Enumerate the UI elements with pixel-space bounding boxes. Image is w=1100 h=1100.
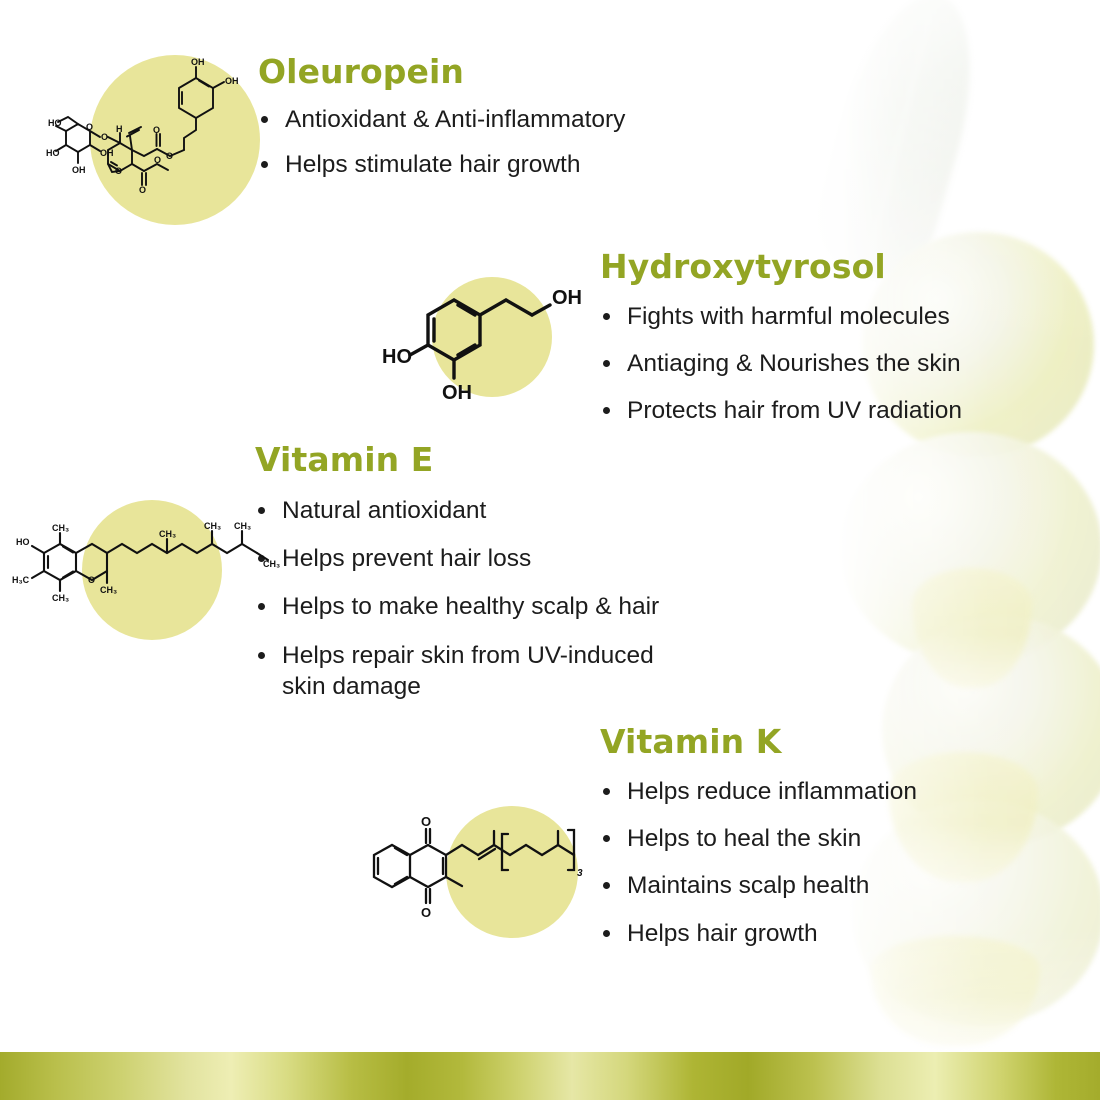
list-item: Fights with harmful molecules <box>600 301 1020 332</box>
vitamin-k-svg: O O 3 <box>358 798 608 948</box>
bullet-dot-icon <box>603 835 610 842</box>
list-item: Helps hair growth <box>600 918 1020 949</box>
section-hydroxytyrosol: Hydroxytyrosol Fights with harmful molec… <box>600 250 1020 427</box>
hydroxytyrosol-svg: HO OH OH <box>380 262 605 417</box>
bullet-dot-icon <box>603 882 610 889</box>
bullet-dot-icon <box>603 407 610 414</box>
label-oh: OH <box>442 382 472 404</box>
oleuropein-structure-diagram: OH OH HO HO OH OH H O O O O O O O <box>20 40 260 215</box>
bullet-dot-icon <box>603 360 610 367</box>
section-heading-vitamin-k: Vitamin K <box>600 725 1020 760</box>
bullet-text: Protects hair from UV radiation <box>627 397 962 424</box>
bullet-list-vitamin-k: Helps reduce inflammation Helps to heal … <box>600 776 1020 949</box>
bullet-dot-icon <box>603 313 610 320</box>
section-oleuropein: Oleuropein Antioxidant & Anti-inflammato… <box>258 55 688 180</box>
label-ch3: CH₃ <box>159 529 176 539</box>
bullet-dot-icon <box>603 788 610 795</box>
bullet-list-hydroxytyrosol: Fights with harmful molecules Antiaging … <box>600 301 1020 427</box>
label-o: O <box>86 122 93 132</box>
list-item: Natural antioxidant <box>255 495 705 526</box>
list-item: Protects hair from UV radiation <box>600 395 1020 426</box>
label-oh: OH <box>191 57 205 67</box>
label-oh: OH <box>552 287 582 309</box>
vitamin-k-structure-diagram: O O 3 <box>358 798 608 948</box>
label-oh: OH <box>72 165 86 175</box>
label-o: O <box>166 151 173 161</box>
infographic-poster: OH OH HO HO OH OH H O O O O O O O Oleuro… <box>0 0 1100 1100</box>
bullet-text: Helps hair growth <box>627 920 818 947</box>
bullet-text: Helps prevent hair loss <box>282 545 531 572</box>
label-h: H <box>116 124 123 134</box>
list-item: Antiaging & Nourishes the skin <box>600 348 1020 379</box>
bullet-list-oleuropein: Antioxidant & Anti-inflammatory Helps st… <box>258 104 688 181</box>
label-oh: OH <box>100 148 114 158</box>
bullet-dot-icon <box>603 930 610 937</box>
section-heading-vitamin-e: Vitamin E <box>255 443 705 478</box>
label-ho: HO <box>16 537 30 547</box>
list-item: Helps prevent hair loss <box>255 543 705 574</box>
list-item: Helps reduce inflammation <box>600 776 1020 807</box>
label-ch3: CH₃ <box>263 559 280 569</box>
label-oh: OH <box>225 76 239 86</box>
label-ch3: CH₃ <box>234 521 251 531</box>
section-heading-oleuropein: Oleuropein <box>258 55 688 90</box>
olive-oil-drip-3 <box>870 936 1040 1046</box>
label-ho: HO <box>46 148 60 158</box>
label-ch3: CH₃ <box>52 593 69 603</box>
section-heading-hydroxytyrosol: Hydroxytyrosol <box>600 250 1020 285</box>
list-item: Helps stimulate hair growth <box>258 149 688 180</box>
label-o: O <box>154 155 161 165</box>
label-o: O <box>88 575 95 585</box>
label-h3c: H₃C <box>12 575 30 585</box>
label-ho: HO <box>382 346 412 368</box>
label-o: O <box>421 814 431 829</box>
list-item: Helps repair skin from UV-induced skin d… <box>255 640 705 703</box>
label-o: O <box>115 166 122 176</box>
hydroxytyrosol-structure-diagram: HO OH OH <box>380 262 605 417</box>
bottom-accent-bar <box>0 1052 1100 1100</box>
label-ch3: CH₃ <box>204 521 221 531</box>
label-o: O <box>139 185 146 195</box>
bullet-list-vitamin-e: Natural antioxidant Helps prevent hair l… <box>255 495 705 703</box>
label-o: O <box>421 905 431 920</box>
label-ho: HO <box>48 118 62 128</box>
bullet-text: Helps stimulate hair growth <box>285 151 580 178</box>
bullet-text: Antioxidant & Anti-inflammatory <box>285 106 625 133</box>
vitamin-e-structure-diagram: HO CH₃ H₃C CH₃ O CH₃ CH₃ CH₃ CH₃ CH₃ <box>10 495 275 640</box>
olive-fruit-2 <box>840 432 1100 664</box>
section-vitamin-k: Vitamin K Helps reduce inflammation Help… <box>600 725 1020 949</box>
oleuropein-svg: OH OH HO HO OH OH H O O O O O O O <box>20 40 260 215</box>
bullet-text: Helps repair skin from UV-induced skin d… <box>282 642 654 700</box>
bullet-text: Helps to make healthy scalp & hair <box>282 593 659 620</box>
label-ch3: CH₃ <box>100 585 117 595</box>
bullet-dot-icon <box>261 161 268 168</box>
bullet-text: Antiaging & Nourishes the skin <box>627 350 961 377</box>
list-item: Helps to heal the skin <box>600 823 1020 854</box>
label-o: O <box>101 132 108 142</box>
bullet-text: Fights with harmful molecules <box>627 303 950 330</box>
bullet-text: Helps reduce inflammation <box>627 778 917 805</box>
label-ch3: CH₃ <box>52 523 69 533</box>
list-item: Maintains scalp health <box>600 870 1020 901</box>
label-subscript-3: 3 <box>577 868 583 879</box>
bullet-text: Helps to heal the skin <box>627 825 861 852</box>
list-item: Antioxidant & Anti-inflammatory <box>258 104 688 135</box>
bullet-dot-icon <box>258 652 265 659</box>
olive-oil-drip-1 <box>912 568 1032 688</box>
list-item: Helps to make healthy scalp & hair <box>255 591 705 622</box>
section-vitamin-e: Vitamin E Natural antioxidant Helps prev… <box>255 443 705 702</box>
vitamin-e-svg: HO CH₃ H₃C CH₃ O CH₃ CH₃ CH₃ CH₃ CH₃ <box>10 495 275 640</box>
bullet-text: Natural antioxidant <box>282 497 486 524</box>
bullet-dot-icon <box>261 116 268 123</box>
label-o: O <box>153 125 160 135</box>
bullet-text: Maintains scalp health <box>627 872 869 899</box>
